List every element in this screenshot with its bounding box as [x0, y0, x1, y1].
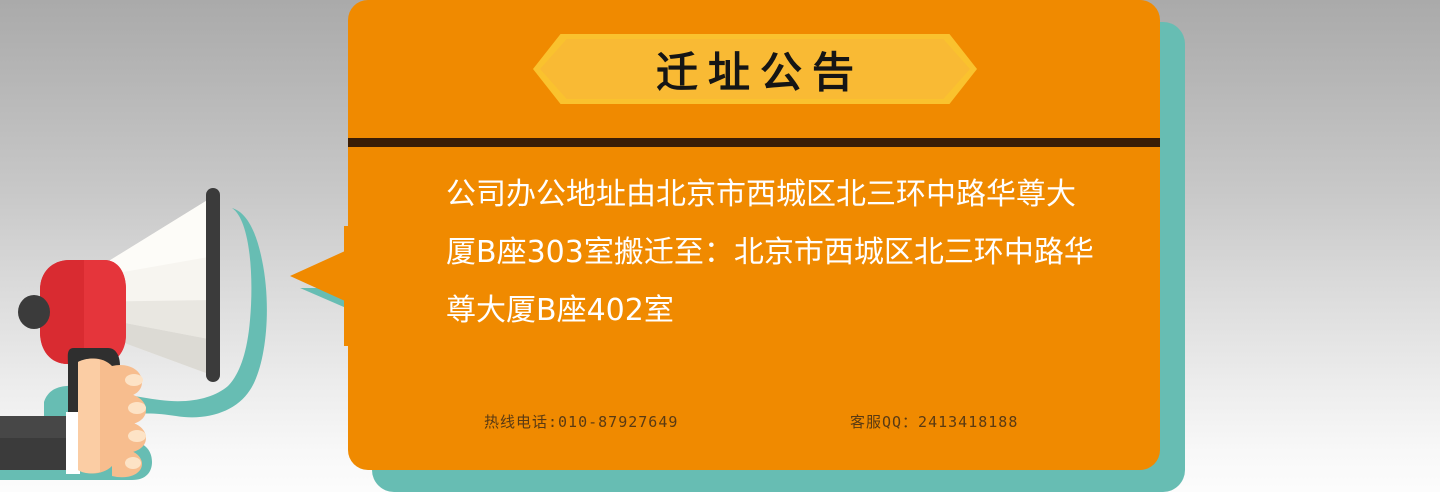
header-divider: [348, 138, 1160, 147]
megaphone-nub-icon: [18, 295, 50, 329]
page-title: 迁址公告: [533, 34, 977, 104]
hotline-text: 热线电话:010-87927649: [484, 411, 678, 432]
announcement-body-text: 公司办公地址由北京市西城区北三环中路华尊大厦B座303室搬迁至：北京市西城区北三…: [446, 166, 1096, 340]
qq-text: 客服QQ：2413418188: [850, 411, 1018, 432]
shirt-cuff-icon: [66, 412, 80, 474]
suit-sleeve-icon: [0, 416, 74, 470]
announcement-banner-stage: 迁址公告 公司办公地址由北京市西城区北三环中路华尊大厦B座303室搬迁至：北京市…: [0, 0, 1440, 492]
contact-footer: 热线电话:010-87927649 客服QQ：2413418188: [446, 406, 1096, 436]
hand-icon: [78, 359, 146, 478]
megaphone-illustration: [0, 180, 320, 492]
speech-tail-joint: [344, 226, 368, 346]
megaphone-rim-icon: [206, 188, 220, 382]
